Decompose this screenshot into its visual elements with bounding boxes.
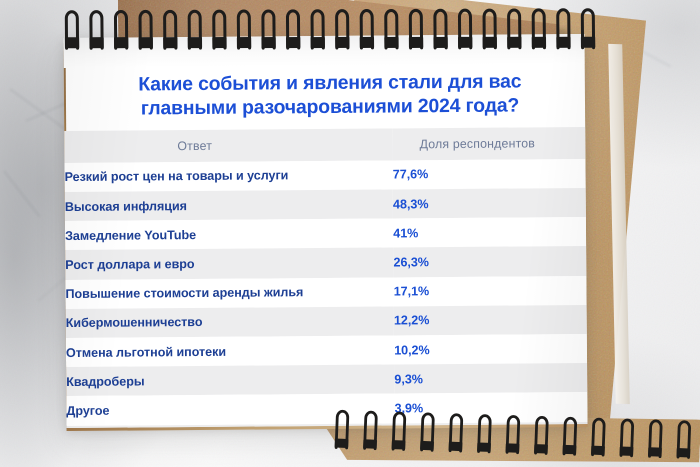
cell-answer: Рост доллара и евро: [65, 248, 393, 280]
cell-answer: Повышение стоимости аренды жилья: [65, 277, 393, 309]
table-row: Отмена льготной ипотеки10,2%: [66, 334, 587, 367]
table-row: Замедление YouTube41%: [65, 217, 586, 250]
cell-answer: Кибермошенничество: [66, 306, 394, 338]
table-row: Кибермошенничество12,2%: [66, 305, 587, 338]
table-header: Ответ Доля респондентов: [64, 127, 585, 163]
table-row: Квадроберы9,3%: [66, 363, 587, 396]
page-title: Какие события и явления стали для вас гл…: [101, 69, 559, 121]
binding-strip: [63, 34, 584, 68]
cell-share-value: 10,2%: [394, 334, 587, 365]
cell-share-value: 77,6%: [393, 159, 586, 190]
cell-share-value: 26,3%: [393, 246, 586, 277]
table-row: Другое3,9%: [66, 392, 587, 425]
cell-share-value: 17,1%: [394, 276, 587, 307]
column-header-answer: Ответ: [64, 128, 392, 163]
cell-share-value: 3,9%: [394, 392, 587, 423]
cell-answer: Высокая инфляция: [65, 190, 393, 222]
cell-answer: Резкий рост цен на товары и услуги: [64, 160, 392, 192]
survey-card-page: Какие события и явления стали для вас гл…: [63, 34, 587, 428]
cell-share-value: 41%: [393, 217, 586, 248]
cell-share-value: 48,3%: [393, 188, 586, 219]
table-row: Высокая инфляция48,3%: [65, 188, 586, 221]
cell-answer: Квадроберы: [66, 365, 394, 397]
table-row: Резкий рост цен на товары и услуги77,6%: [64, 159, 585, 192]
title-block: Какие события и явления стали для вас гл…: [64, 64, 585, 122]
table-body: Резкий рост цен на товары и услуги77,6%В…: [64, 159, 587, 428]
cell-answer: Замедление YouTube: [65, 219, 393, 251]
cell-answer: Другое: [66, 394, 394, 426]
table-header-row: Ответ Доля респондентов: [64, 127, 585, 163]
table-row: Рост доллара и евро26,3%: [65, 246, 586, 279]
cell-share-value: 12,2%: [394, 305, 587, 336]
screenshot-scene: Какие события и явления стали для вас гл…: [0, 0, 700, 467]
table-row: Повышение стоимости аренды жилья17,1%: [65, 276, 586, 309]
cell-answer: Отмена льготной ипотеки: [66, 335, 394, 367]
survey-table: Ответ Доля респондентов Резкий рост цен …: [64, 127, 587, 428]
column-header-share: Доля респондентов: [392, 127, 585, 161]
cell-share-value: 9,3%: [394, 363, 587, 394]
